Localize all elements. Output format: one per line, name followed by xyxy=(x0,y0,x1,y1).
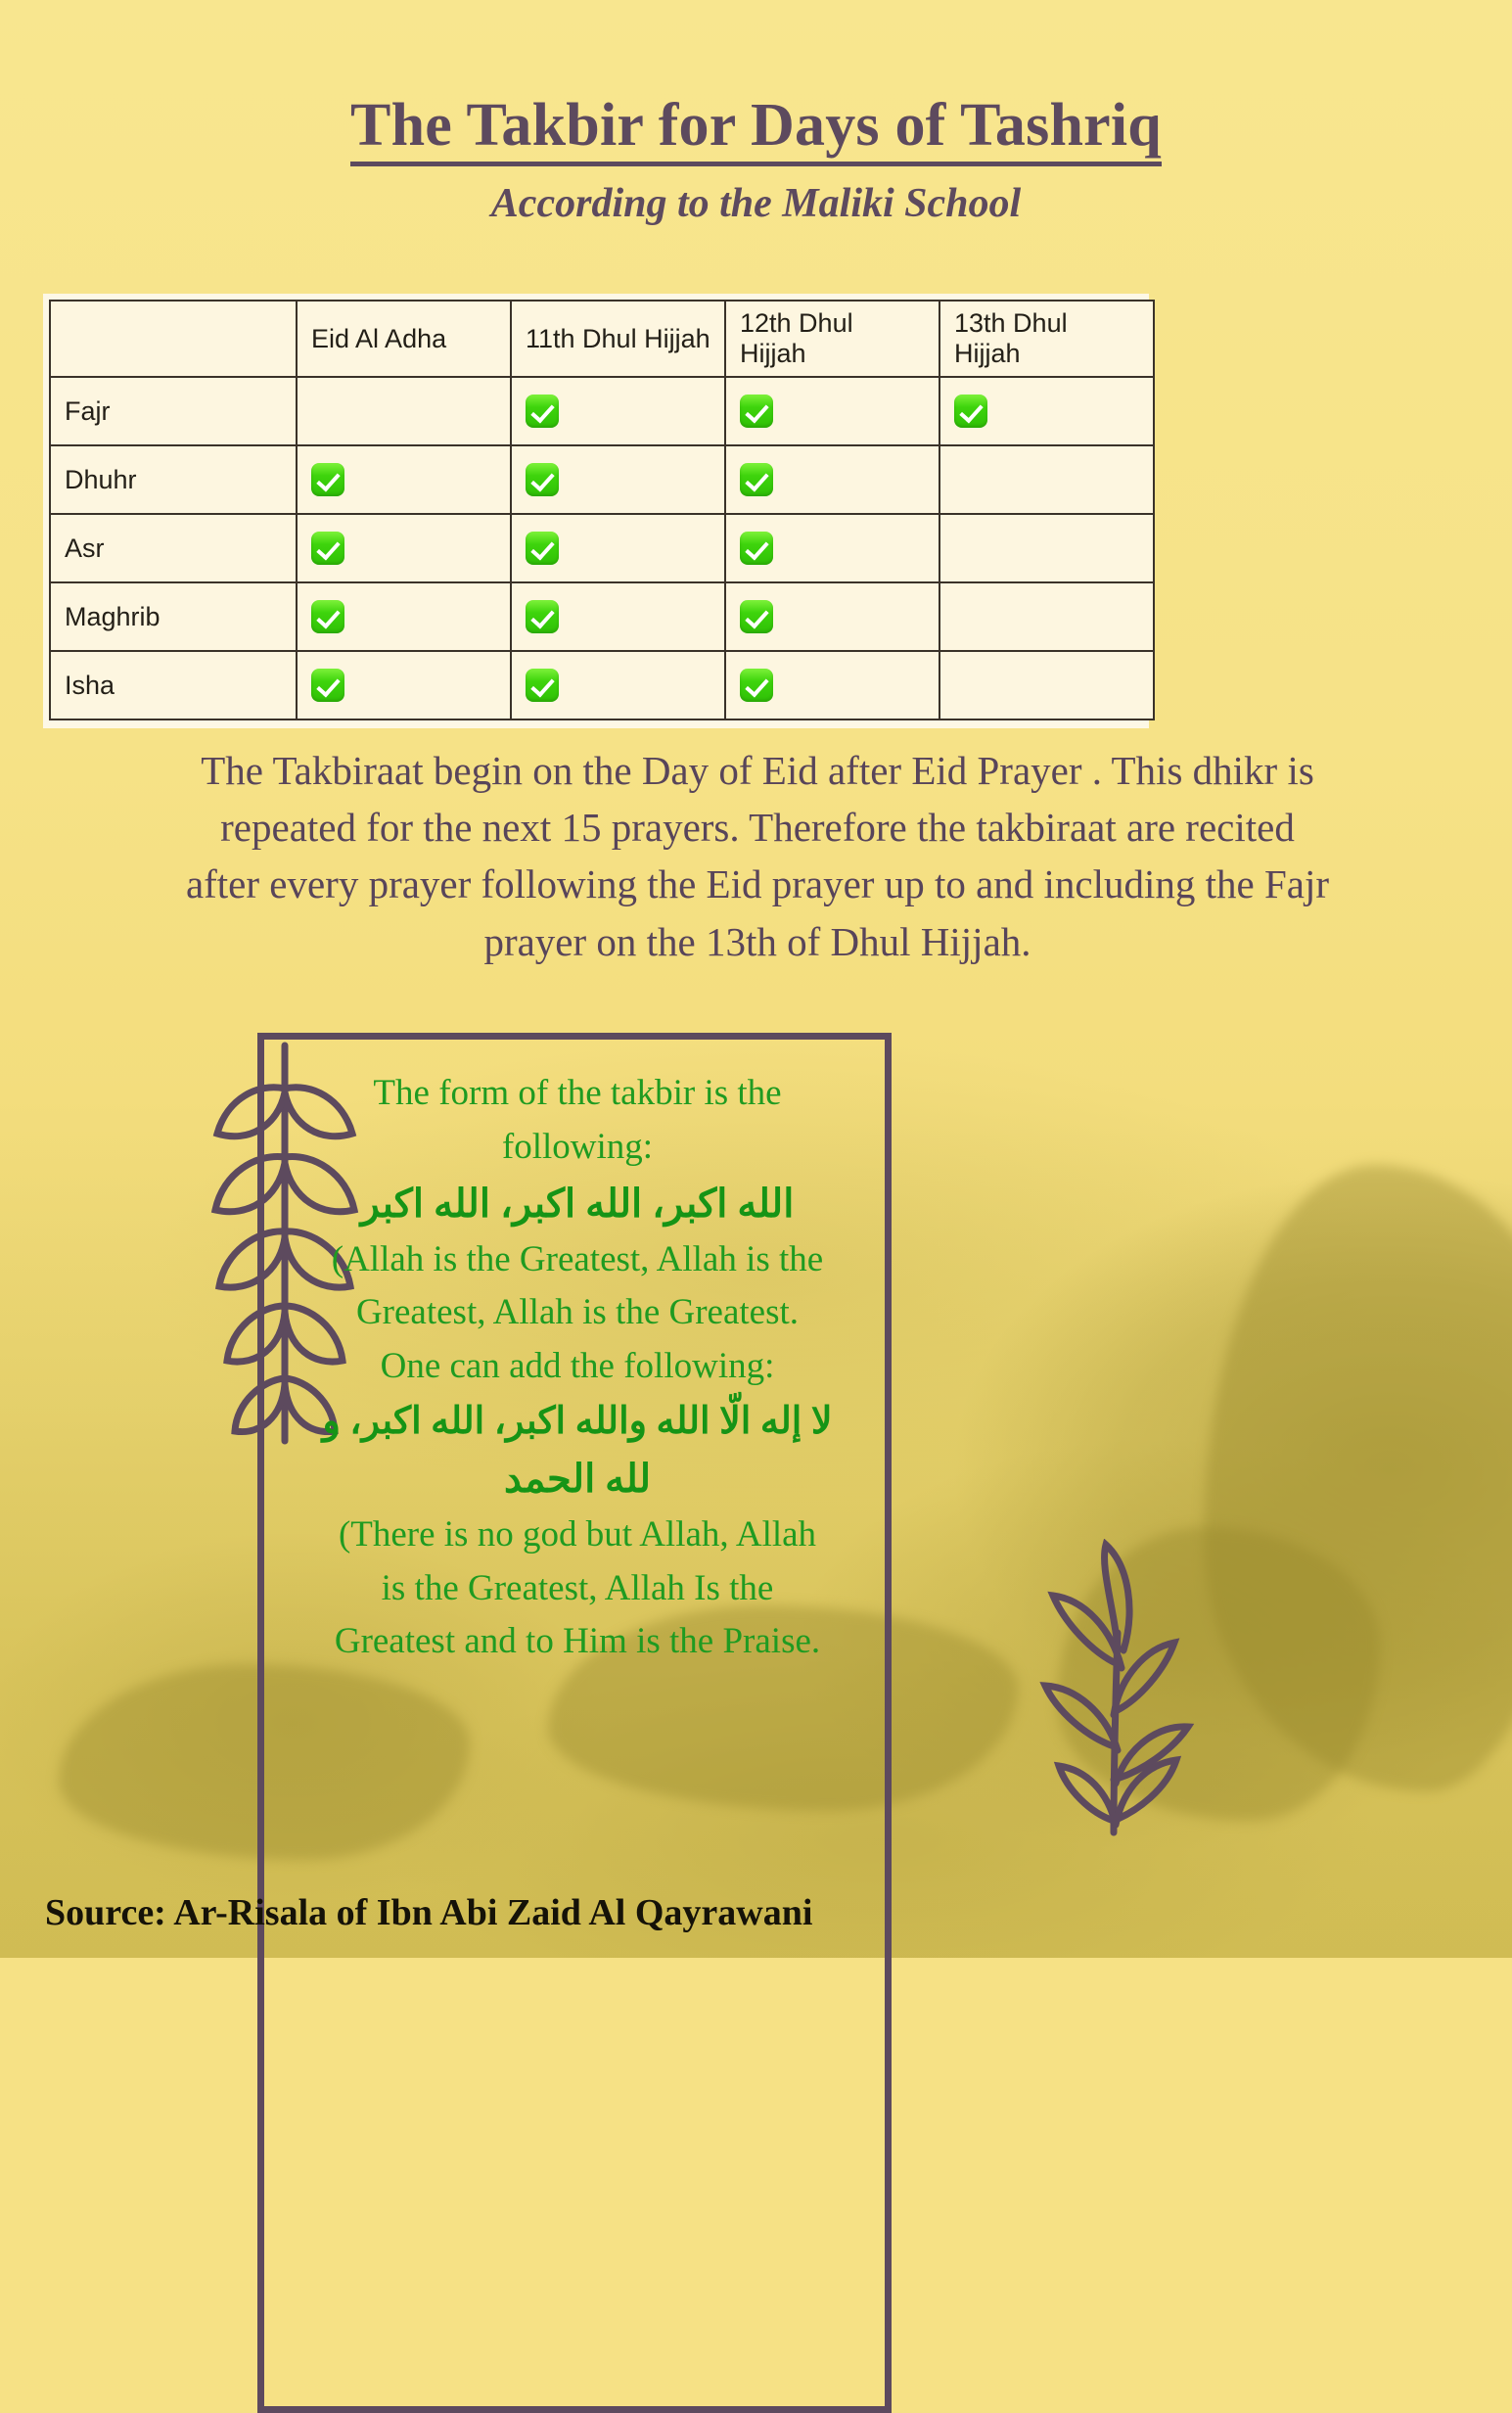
quote-translation-line: Greatest and to Him is the Praise. xyxy=(284,1615,871,1669)
check-mark-icon xyxy=(740,532,773,565)
check-mark-icon xyxy=(526,600,559,633)
table-row: Asr xyxy=(50,514,1154,582)
table-row: Isha xyxy=(50,651,1154,719)
takbir-arabic-addition-line2: لله الحمد xyxy=(284,1450,871,1508)
table-col-header-13th: 13th Dhul Hijjah xyxy=(939,301,1154,377)
check-mark-icon xyxy=(311,669,344,702)
prayer-name-cell: Asr xyxy=(50,514,297,582)
quote-intro-line: following: xyxy=(284,1121,871,1175)
quote-translation-line: (Allah is the Greatest, Allah is the xyxy=(284,1233,871,1287)
checked-cell xyxy=(725,377,939,445)
check-mark-icon xyxy=(954,394,987,428)
background-rock xyxy=(59,1664,470,1860)
prayer-table: Eid Al Adha 11th Dhul Hijjah 12th Dhul H… xyxy=(49,300,1155,720)
quote-addition-intro: One can add the following: xyxy=(284,1340,871,1394)
page-title: The Takbir for Days of Tashriq xyxy=(350,94,1162,166)
empty-cell xyxy=(297,377,511,445)
check-mark-icon xyxy=(311,463,344,496)
table-row: Dhuhr xyxy=(50,445,1154,514)
check-mark-icon xyxy=(740,463,773,496)
page-header: The Takbir for Days of Tashriq According… xyxy=(0,94,1512,227)
check-mark-icon xyxy=(526,394,559,428)
table-col-header-blank xyxy=(50,301,297,377)
empty-cell xyxy=(939,514,1154,582)
paragraph-line: The Takbiraat begin on the Day of Eid af… xyxy=(23,742,1491,799)
prayer-name-cell: Maghrib xyxy=(50,582,297,651)
takbir-quote-block: The form of the takbir is the following:… xyxy=(284,1067,871,1669)
table-col-header-11th: 11th Dhul Hijjah xyxy=(511,301,725,377)
checked-cell xyxy=(511,377,725,445)
checked-cell xyxy=(725,651,939,719)
source-citation: Source: Ar-Risala of Ibn Abi Zaid Al Qay… xyxy=(45,1891,812,1934)
table-header-row: Eid Al Adha 11th Dhul Hijjah 12th Dhul H… xyxy=(50,301,1154,377)
check-mark-icon xyxy=(311,532,344,565)
page-subtitle: According to the Maliki School xyxy=(0,180,1512,227)
check-mark-icon xyxy=(311,600,344,633)
quote-translation-line: (There is no god but Allah, Allah xyxy=(284,1508,871,1562)
check-mark-icon xyxy=(526,669,559,702)
quote-translation-line: Greatest, Allah is the Greatest. xyxy=(284,1286,871,1340)
empty-cell xyxy=(939,445,1154,514)
checked-cell xyxy=(725,514,939,582)
checked-cell xyxy=(511,651,725,719)
table-col-header-eid-al-adha: Eid Al Adha xyxy=(297,301,511,377)
paragraph-line: prayer on the 13th of Dhul Hijjah. xyxy=(23,913,1491,970)
plant-sprig-icon xyxy=(1020,1539,1230,1847)
checked-cell xyxy=(939,377,1154,445)
check-mark-icon xyxy=(740,394,773,428)
prayer-name-cell: Fajr xyxy=(50,377,297,445)
check-mark-icon xyxy=(740,600,773,633)
quote-intro-line: The form of the takbir is the xyxy=(284,1067,871,1121)
empty-cell xyxy=(939,651,1154,719)
checked-cell xyxy=(725,582,939,651)
checked-cell xyxy=(297,582,511,651)
prayer-name-cell: Dhuhr xyxy=(50,445,297,514)
takbir-arabic-primary: الله اكبر، الله اكبر، الله اكبر xyxy=(284,1175,871,1233)
check-mark-icon xyxy=(740,669,773,702)
checked-cell xyxy=(297,651,511,719)
check-mark-icon xyxy=(526,463,559,496)
table-row: Fajr xyxy=(50,377,1154,445)
quote-translation-line: is the Greatest, Allah Is the xyxy=(284,1562,871,1616)
takbir-arabic-addition-line1: لا إله الّا الله والله اكبر، الله اكبر، … xyxy=(284,1394,871,1450)
prayer-table-body: FajrDhuhrAsrMaghribIsha xyxy=(50,377,1154,719)
paragraph-line: after every prayer following the Eid pra… xyxy=(23,856,1491,912)
prayer-table-container: Eid Al Adha 11th Dhul Hijjah 12th Dhul H… xyxy=(43,294,1149,728)
checked-cell xyxy=(297,514,511,582)
checked-cell xyxy=(511,582,725,651)
checked-cell xyxy=(297,445,511,514)
checked-cell xyxy=(511,445,725,514)
paragraph-line: repeated for the next 15 prayers. Theref… xyxy=(23,799,1491,856)
checked-cell xyxy=(725,445,939,514)
table-col-header-12th: 12th Dhul Hijjah xyxy=(725,301,939,377)
empty-cell xyxy=(939,582,1154,651)
checked-cell xyxy=(511,514,725,582)
explanation-paragraph: The Takbiraat begin on the Day of Eid af… xyxy=(23,742,1491,970)
check-mark-icon xyxy=(526,532,559,565)
table-row: Maghrib xyxy=(50,582,1154,651)
prayer-name-cell: Isha xyxy=(50,651,297,719)
